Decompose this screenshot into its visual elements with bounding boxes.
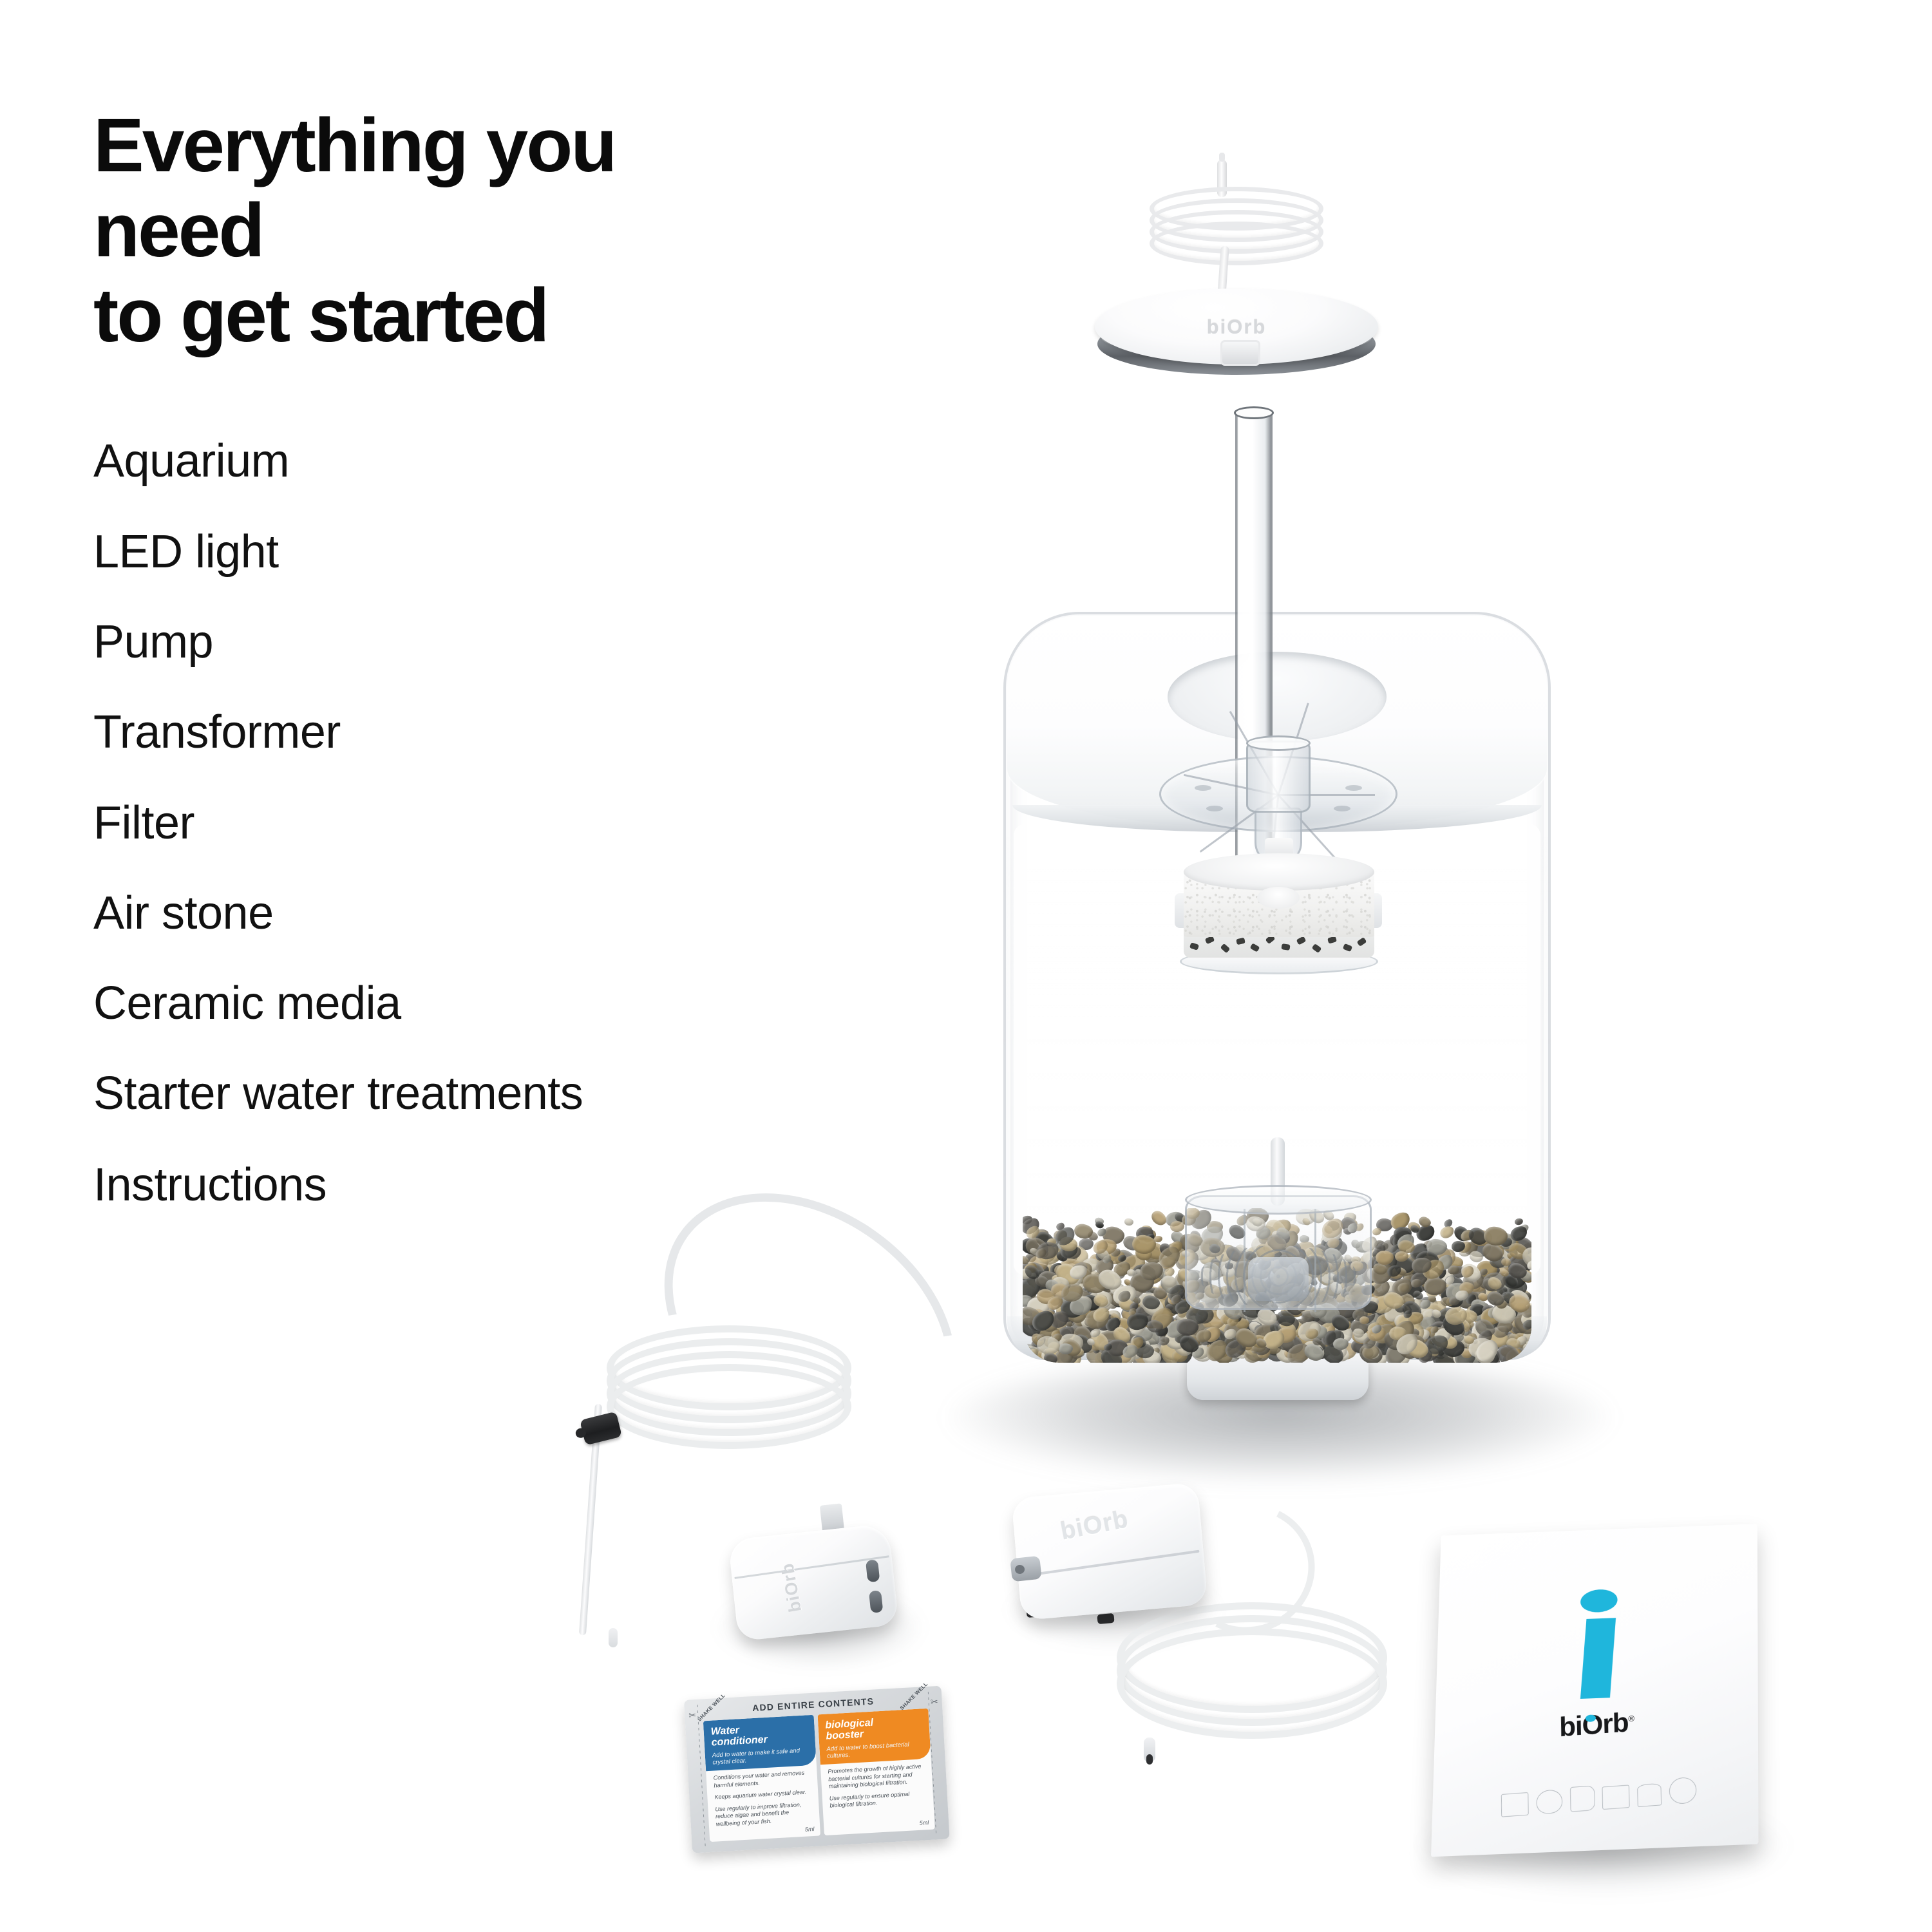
air-pump-brand-logo: biOrb (1058, 1506, 1131, 1546)
air-pump-tube-coil (1117, 1602, 1387, 1744)
led-light-icon: biOrb (1095, 187, 1378, 399)
logo-pre: bi (1559, 1710, 1582, 1743)
logo-orb: O (1582, 1709, 1603, 1741)
sachet-pane-biological-booster: biological booster Add to water to boost… (818, 1709, 935, 1835)
sponge-filter-cartridge-icon (1172, 853, 1385, 976)
sachet-body-line: Promotes the growth of highly active bac… (828, 1763, 927, 1790)
transformer-socket-bottom (869, 1590, 883, 1613)
sachet-body-line: Keeps aquarium water crystal clear. (714, 1788, 812, 1801)
scissors-icon-right: ✂ (931, 1696, 939, 1708)
air-pump-icon: biOrb (1016, 1481, 1293, 1674)
booklet-range-icons (1501, 1774, 1697, 1817)
pump-base-unit-icon (1185, 1185, 1372, 1320)
transformer-socket-top (866, 1559, 880, 1582)
air-line-coil (607, 1325, 851, 1441)
air-pump-body: biOrb (1011, 1482, 1207, 1621)
sachet-body-biological-booster: Promotes the growth of highly active bac… (828, 1763, 928, 1814)
air-pump-tube-end-icon (1144, 1738, 1155, 1762)
product-photo-stage: biOrb (0, 0, 1932, 1932)
logo-registered-mark: ® (1628, 1714, 1634, 1724)
tank-highlight-right (1519, 824, 1540, 1275)
sachet-title-biological-booster: biological booster (825, 1714, 923, 1742)
info-icon-dot (1580, 1588, 1618, 1613)
led-cable-coil-icon (1150, 187, 1323, 264)
sachet-band-biological-booster: biological booster Add to water to boost… (818, 1709, 931, 1765)
sachet-subtitle-biological-booster: Add to water to boost bacterial cultures… (826, 1740, 923, 1760)
sachet-body-line: Use regularly to ensure optimal biologic… (829, 1790, 928, 1810)
sachet-card: ADD ENTIRE CONTENTS SHAKE WELL SHAKE WEL… (684, 1686, 950, 1853)
biorb-orb-icon (1536, 1789, 1562, 1815)
biorb-tube-icon (1637, 1783, 1662, 1807)
led-light-clip-icon (1220, 340, 1260, 366)
sachet-volume-water-conditioner: 5ml (805, 1826, 815, 1833)
info-icon-stem (1580, 1618, 1616, 1699)
transformer-icon: biOrb (726, 1501, 926, 1662)
cartridge-top-face (1184, 853, 1374, 891)
tank-top-opening (1168, 652, 1387, 742)
tank-highlight-left (1014, 824, 1036, 1275)
sachet-body-line: Conditions your water and removes harmfu… (713, 1769, 811, 1789)
pump-base-core (1248, 1257, 1309, 1301)
biorb-life-icon (1669, 1777, 1697, 1805)
sachet-body-line: Use regularly to improve filtration, red… (715, 1801, 814, 1828)
biorb-flow-icon (1570, 1785, 1595, 1812)
filter-lid-collar (1246, 741, 1311, 813)
sachet-body-water-conditioner: Conditions your water and removes harmfu… (713, 1769, 814, 1832)
biorb-cube2-icon (1602, 1785, 1630, 1810)
booklet-brand-logo: biOrb® (1435, 1698, 1759, 1752)
air-pump-nozzle-icon (1010, 1556, 1042, 1582)
sachet-band-water-conditioner: Water conditioner Add to water to make i… (703, 1715, 817, 1771)
biorb-cube-icon (1501, 1792, 1529, 1817)
air-pump-seam (1022, 1550, 1200, 1578)
sachet-title-water-conditioner: Water conditioner (710, 1721, 808, 1748)
sachet-pane-water-conditioner: Water conditioner Add to water to make i… (703, 1715, 820, 1842)
air-stone-tip-icon (609, 1628, 618, 1647)
logo-post: rb (1602, 1707, 1629, 1739)
sachet-volume-biological-booster: 5ml (919, 1819, 929, 1826)
pump-base-top-rim (1185, 1185, 1372, 1215)
scissors-icon-left: ✂ (688, 1710, 697, 1721)
led-brand-logo: biOrb (1095, 316, 1378, 339)
cartridge-center-hub (1257, 887, 1300, 909)
transformer-body: biOrb (728, 1523, 898, 1641)
starter-water-treatment-sachets-icon: ADD ENTIRE CONTENTS SHAKE WELL SHAKE WEL… (684, 1685, 965, 1893)
instruction-booklet-icon: biOrb® (1436, 1526, 1784, 1874)
booklet-cover: biOrb® (1431, 1524, 1759, 1857)
sachet-subtitle-water-conditioner: Add to water to make it safe and crystal… (712, 1747, 810, 1766)
air-pump-foot-right (1097, 1613, 1114, 1624)
